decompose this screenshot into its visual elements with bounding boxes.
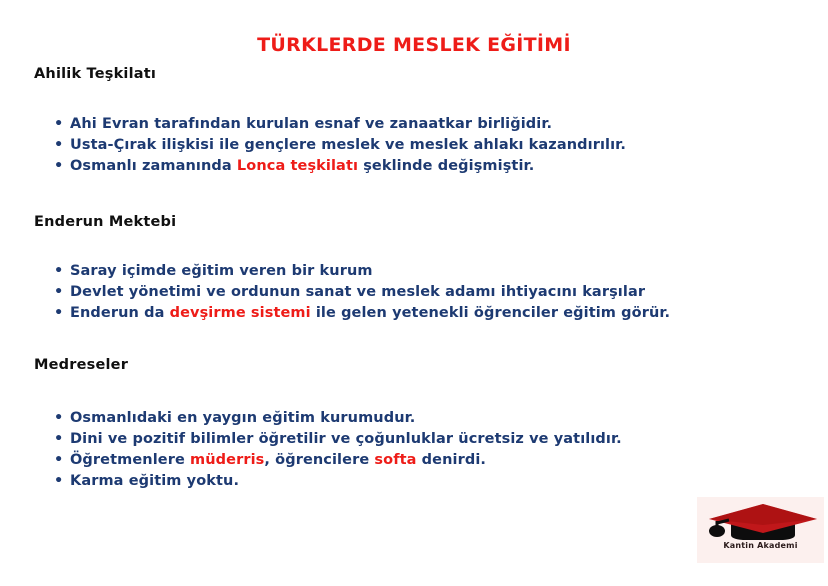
bullet-dot-icon: • bbox=[54, 303, 63, 324]
section-heading-text: Enderun Mektebi bbox=[34, 214, 828, 230]
bullet-dot-icon: • bbox=[54, 450, 63, 471]
list-item-text: Enderun da bbox=[70, 305, 170, 321]
list-item: •Osmanlıdaki en yaygın eğitim kurumudur. bbox=[70, 408, 828, 429]
list-item-text: Osmanlıdaki en yaygın eğitim kurumudur. bbox=[70, 410, 415, 426]
highlighted-term: müderris bbox=[190, 452, 264, 468]
bullet-list-ahilik: •Ahi Evran tarafından kurulan esnaf ve z… bbox=[0, 114, 828, 177]
section-heading-enderun: Enderun Mektebi bbox=[0, 214, 828, 230]
list-item: •Usta-Çırak ilişkisi ile gençlere meslek… bbox=[70, 135, 828, 156]
graduation-cap-icon bbox=[697, 499, 824, 543]
list-item: •Enderun da devşirme sistemi ile gelen y… bbox=[70, 303, 828, 324]
bullet-list: •Ahi Evran tarafından kurulan esnaf ve z… bbox=[0, 114, 828, 177]
list-item: •Dini ve pozitif bilimler öğretilir ve ç… bbox=[70, 429, 828, 450]
bullet-list-medreseler: •Osmanlıdaki en yaygın eğitim kurumudur.… bbox=[0, 408, 828, 492]
list-item: •Öğretmenlere müderris, öğrencilere soft… bbox=[70, 450, 828, 471]
highlighted-term: Lonca teşkilatı bbox=[237, 158, 358, 174]
bullet-dot-icon: • bbox=[54, 156, 63, 177]
list-item-text: Devlet yönetimi ve ordunun sanat ve mesl… bbox=[70, 284, 645, 300]
bullet-list-enderun: •Saray içimde eğitim veren bir kurum•Dev… bbox=[0, 261, 828, 324]
list-item: •Karma eğitim yoktu. bbox=[70, 471, 828, 492]
bullet-dot-icon: • bbox=[54, 471, 63, 492]
page-title: TÜRKLERDE MESLEK EĞİTİMİ bbox=[0, 34, 828, 56]
logo-text: Kantin Akademi bbox=[697, 541, 824, 550]
highlighted-term: devşirme sistemi bbox=[170, 305, 311, 321]
list-item-text: Öğretmenlere bbox=[70, 452, 190, 468]
bullet-dot-icon: • bbox=[54, 261, 63, 282]
bullet-dot-icon: • bbox=[54, 429, 63, 450]
bullet-dot-icon: • bbox=[54, 282, 63, 303]
slide-canvas: TÜRKLERDE MESLEK EĞİTİMİ Ahilik Teşkilat… bbox=[0, 0, 828, 586]
list-item-text: ile gelen yetenekli öğrenciler eğitim gö… bbox=[311, 305, 670, 321]
list-item-text: Saray içimde eğitim veren bir kurum bbox=[70, 263, 373, 279]
section-heading-text: Medreseler bbox=[34, 357, 828, 373]
list-item-text: Karma eğitim yoktu. bbox=[70, 473, 239, 489]
list-item: •Ahi Evran tarafından kurulan esnaf ve z… bbox=[70, 114, 828, 135]
list-item: •Osmanlı zamanında Lonca teşkilatı şekli… bbox=[70, 156, 828, 177]
section-heading-medreseler: Medreseler bbox=[0, 357, 828, 373]
list-item-text: denirdi. bbox=[417, 452, 486, 468]
section-heading-text: Ahilik Teşkilatı bbox=[34, 66, 828, 82]
section-heading-ahilik: Ahilik Teşkilatı bbox=[0, 66, 828, 82]
bullet-dot-icon: • bbox=[54, 114, 63, 135]
bullet-list: •Saray içimde eğitim veren bir kurum•Dev… bbox=[0, 261, 828, 324]
list-item-text: Osmanlı zamanında bbox=[70, 158, 237, 174]
bullet-dot-icon: • bbox=[54, 408, 63, 429]
list-item-text: Ahi Evran tarafından kurulan esnaf ve za… bbox=[70, 116, 552, 132]
list-item: •Devlet yönetimi ve ordunun sanat ve mes… bbox=[70, 282, 828, 303]
highlighted-term: softa bbox=[374, 452, 416, 468]
list-item-text: şeklinde değişmiştir. bbox=[358, 158, 534, 174]
brand-logo: Kantin Akademi bbox=[697, 497, 824, 563]
list-item-text: Dini ve pozitif bilimler öğretilir ve ço… bbox=[70, 431, 622, 447]
bullet-dot-icon: • bbox=[54, 135, 63, 156]
bullet-list: •Osmanlıdaki en yaygın eğitim kurumudur.… bbox=[0, 408, 828, 492]
list-item-text: , öğrencilere bbox=[264, 452, 374, 468]
list-item: •Saray içimde eğitim veren bir kurum bbox=[70, 261, 828, 282]
list-item-text: Usta-Çırak ilişkisi ile gençlere meslek … bbox=[70, 137, 626, 153]
